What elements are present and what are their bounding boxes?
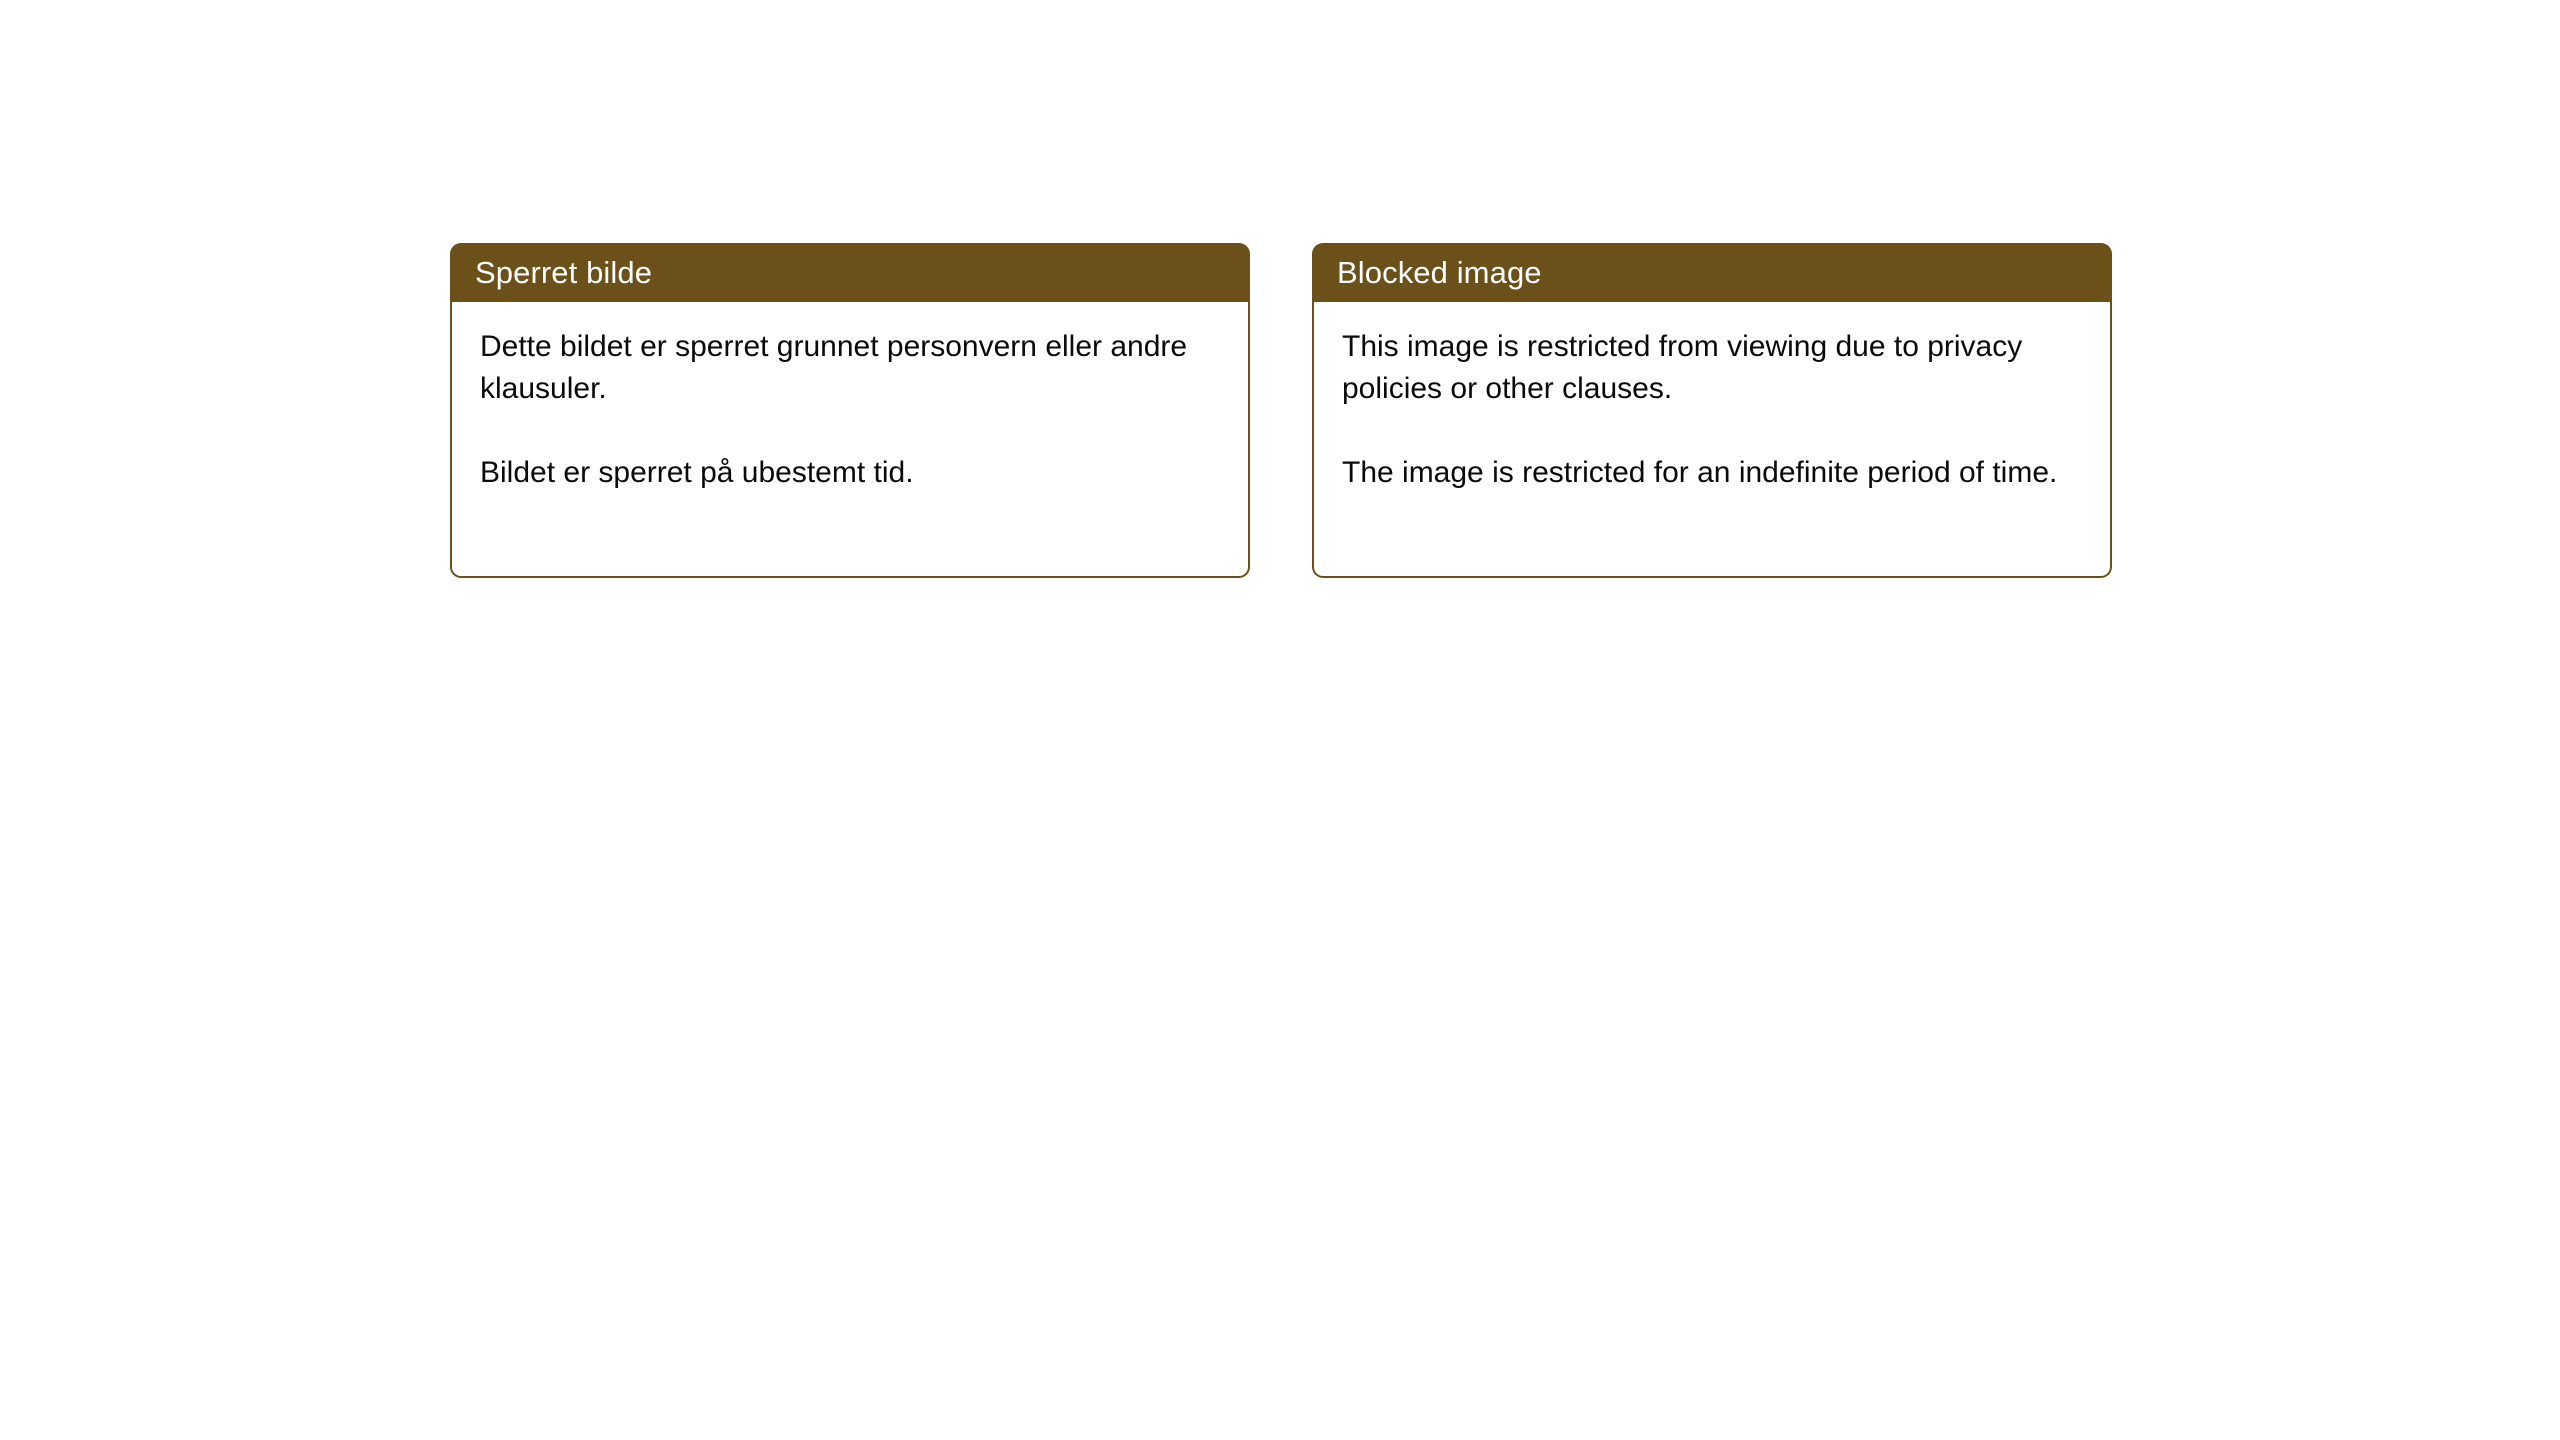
panel-paragraph-duration-english: The image is restricted for an indefinit…	[1342, 452, 2088, 494]
panel-body-english: This image is restricted from viewing du…	[1312, 302, 2112, 578]
panel-paragraph-reason-english: This image is restricted from viewing du…	[1342, 326, 2088, 410]
panel-body-norwegian: Dette bildet er sperret grunnet personve…	[450, 302, 1250, 578]
blocked-image-notice-group: Sperret bilde Dette bildet er sperret gr…	[450, 243, 2112, 578]
panel-header-english: Blocked image	[1312, 243, 2112, 302]
panel-title-english: Blocked image	[1337, 257, 1542, 288]
panel-title-norwegian: Sperret bilde	[475, 257, 652, 288]
panel-header-norwegian: Sperret bilde	[450, 243, 1250, 302]
blocked-image-panel-english: Blocked image This image is restricted f…	[1312, 243, 2112, 578]
blocked-image-panel-norwegian: Sperret bilde Dette bildet er sperret gr…	[450, 243, 1250, 578]
panel-paragraph-duration-norwegian: Bildet er sperret på ubestemt tid.	[480, 452, 1226, 494]
panel-paragraph-reason-norwegian: Dette bildet er sperret grunnet personve…	[480, 326, 1226, 410]
